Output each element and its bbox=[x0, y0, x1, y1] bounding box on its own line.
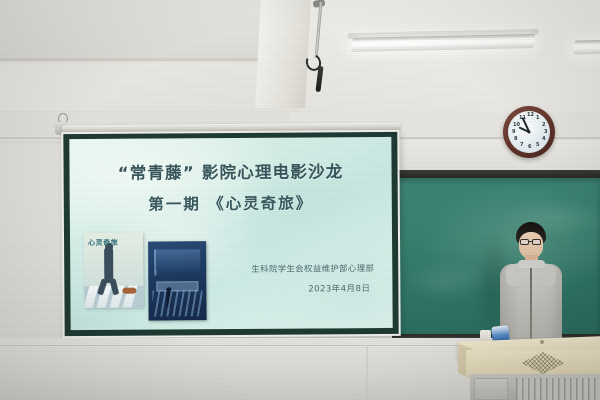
clock-number-4: 4 bbox=[542, 137, 545, 142]
board-upper-wall bbox=[392, 140, 600, 172]
projected-slide: “常青藤” 影院心理电影沙龙 第一期 《心灵奇旅》 心灵奇旅 bbox=[69, 137, 392, 330]
podium-screw bbox=[540, 340, 544, 344]
poster-stairs bbox=[152, 290, 202, 316]
slide-date: 2023年4月8日 bbox=[308, 282, 370, 294]
clock-number-12: 12 bbox=[527, 113, 534, 118]
glasses-icon-left bbox=[520, 239, 529, 245]
speaker-collar bbox=[518, 260, 545, 268]
clock-number-7: 7 bbox=[520, 143, 523, 148]
clock-center-pin bbox=[528, 131, 531, 134]
ceiling-edge-line bbox=[0, 58, 268, 61]
slide-organizer: 生科院学生会权益维护部心理部 bbox=[251, 262, 374, 275]
projection-screen[interactable]: “常青藤” 影院心理电影沙龙 第一期 《心灵奇旅》 心灵奇旅 bbox=[61, 130, 400, 338]
glasses-icon-right bbox=[532, 239, 541, 245]
clock-number-1: 1 bbox=[536, 116, 539, 121]
fluorescent-light-icon-2 bbox=[573, 40, 600, 55]
clock-number-2: 2 bbox=[542, 123, 545, 128]
clock-face: 12 1 2 3 4 5 6 7 8 9 10 11 bbox=[508, 111, 550, 153]
screen-border: “常青藤” 影院心理电影沙龙 第一期 《心灵奇旅》 心灵奇旅 bbox=[63, 132, 398, 336]
poster-cat bbox=[122, 288, 136, 294]
slide-subtitle: 第一期 《心灵奇旅》 bbox=[70, 191, 392, 215]
clock-number-6: 6 bbox=[528, 145, 531, 150]
ceiling-beam bbox=[255, 0, 311, 108]
glasses-bridge bbox=[529, 241, 533, 242]
clock-number-3: 3 bbox=[544, 130, 547, 135]
hoodie-zipper bbox=[530, 268, 532, 342]
lower-wall-seam bbox=[366, 345, 368, 400]
movie-poster-left: 心灵奇旅 bbox=[84, 233, 144, 308]
clock-number-8: 8 bbox=[514, 137, 517, 142]
clock-number-5: 5 bbox=[536, 143, 539, 148]
ceiling-right-panel bbox=[300, 0, 600, 120]
poster-figure-body bbox=[104, 247, 113, 283]
poster-title-text: 心灵奇旅 bbox=[88, 238, 140, 248]
slide-title: “常青藤” 影院心理电影沙龙 bbox=[69, 158, 391, 184]
podium-drawer[interactable] bbox=[474, 378, 508, 400]
ceiling-left-panel bbox=[0, 0, 262, 62]
movie-poster-right bbox=[148, 241, 207, 320]
wall-clock: 12 1 2 3 4 5 6 7 8 9 10 11 bbox=[503, 106, 555, 158]
clock-number-9: 9 bbox=[512, 130, 515, 135]
podium-vent-slats bbox=[516, 378, 600, 400]
classroom-scene: 12 1 2 3 4 5 6 7 8 9 10 11 “常青藤” 影院心理电影沙… bbox=[0, 0, 600, 400]
